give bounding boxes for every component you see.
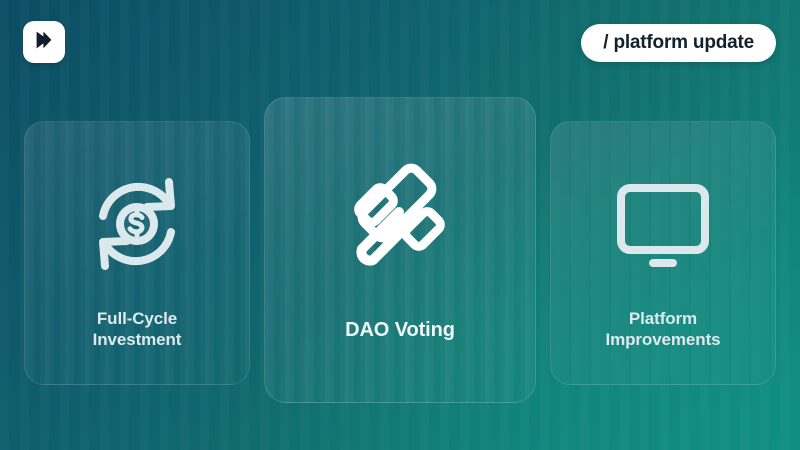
card-label-line-1: DAO Voting bbox=[290, 318, 510, 343]
platform-update-badge[interactable]: / platform update bbox=[581, 24, 776, 62]
bookmark-flag-logo-icon bbox=[32, 28, 56, 57]
slide-canvas: / platform update bbox=[0, 0, 800, 450]
card-label-line-1: Full-Cycle bbox=[52, 308, 222, 329]
brand-logo-badge[interactable] bbox=[23, 21, 65, 63]
card-label-full-cycle-investment: Full-Cycle Investment bbox=[52, 308, 222, 351]
card-label-line-2: Improvements bbox=[578, 329, 748, 350]
platform-update-badge-label: / platform update bbox=[603, 32, 754, 54]
card-label-platform-improvements: Platform Improvements bbox=[578, 308, 748, 351]
card-dao-voting[interactable]: DAO Voting bbox=[264, 97, 536, 403]
card-label-line-1: Platform bbox=[578, 308, 748, 329]
card-platform-improvements[interactable]: Platform Improvements bbox=[550, 121, 776, 385]
card-label-dao-voting: DAO Voting bbox=[290, 318, 510, 343]
card-full-cycle-investment[interactable]: Full-Cycle Investment bbox=[24, 121, 250, 385]
currency-cycle-arrows-icon bbox=[83, 174, 191, 274]
gavel-icon bbox=[338, 160, 462, 278]
monitor-display-icon bbox=[609, 174, 717, 274]
card-label-line-2: Investment bbox=[52, 329, 222, 350]
